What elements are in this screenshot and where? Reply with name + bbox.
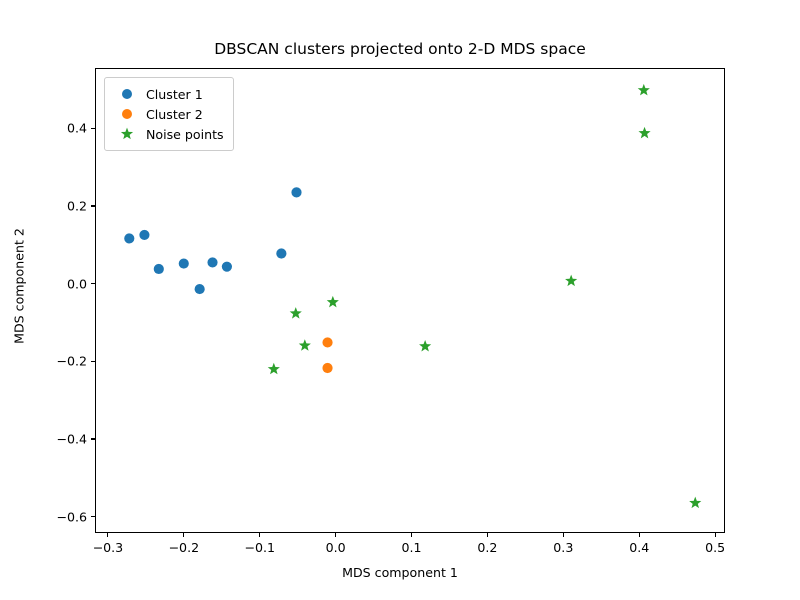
y-tick-mark <box>91 438 95 439</box>
legend-label: Noise points <box>146 127 224 142</box>
y-tick-mark <box>91 361 95 362</box>
x-tick-label: 0.0 <box>326 540 346 555</box>
data-point <box>124 233 134 243</box>
legend-label: Cluster 1 <box>146 87 203 102</box>
data-point <box>207 257 217 267</box>
circle-marker-icon <box>112 109 142 119</box>
x-tick-mark <box>487 533 488 537</box>
circle-marker-icon <box>112 89 142 99</box>
x-tick-label: 0.1 <box>402 540 422 555</box>
series-1 <box>124 187 301 294</box>
data-point <box>139 230 149 240</box>
data-point <box>689 497 701 509</box>
x-tick-mark <box>715 533 716 537</box>
data-point <box>565 275 577 287</box>
x-tick-label: 0.4 <box>629 540 649 555</box>
data-point <box>419 340 431 352</box>
series-3 <box>268 84 702 508</box>
x-tick-label: 0.5 <box>705 540 725 555</box>
data-point <box>276 248 286 258</box>
x-tick-mark <box>563 533 564 537</box>
data-point <box>322 363 332 373</box>
y-tick-mark <box>91 516 95 517</box>
data-point <box>327 296 339 308</box>
data-point <box>195 284 205 294</box>
y-tick-mark <box>91 128 95 129</box>
x-tick-mark <box>107 533 108 537</box>
legend-label: Cluster 2 <box>146 107 203 122</box>
chart-legend: Cluster 1Cluster 2Noise points <box>104 77 234 151</box>
data-point <box>291 187 301 197</box>
x-tick-mark <box>183 533 184 537</box>
matplotlib-figure: DBSCAN clusters projected onto 2-D MDS s… <box>0 0 800 600</box>
star-marker-icon <box>112 126 142 142</box>
x-axis-label: MDS component 1 <box>0 565 800 580</box>
y-axis-label-wrap: MDS component 2 <box>33 0 53 600</box>
x-tick-mark <box>259 533 260 537</box>
chart-title: DBSCAN clusters projected onto 2-D MDS s… <box>0 40 800 58</box>
y-tick-mark <box>91 205 95 206</box>
data-point <box>222 262 232 272</box>
x-tick-mark <box>411 533 412 537</box>
data-point <box>154 264 164 274</box>
data-point <box>179 258 189 268</box>
data-point <box>322 337 332 347</box>
legend-item-1[interactable]: Cluster 1 <box>112 84 224 104</box>
y-axis-label: MDS component 2 <box>12 228 27 344</box>
x-tick-label: −0.3 <box>93 540 124 555</box>
x-tick-mark <box>639 533 640 537</box>
series-2 <box>322 337 332 373</box>
data-point <box>299 339 311 351</box>
x-tick-label: 0.3 <box>553 540 573 555</box>
x-tick-label: −0.2 <box>169 540 200 555</box>
y-tick-mark <box>91 283 95 284</box>
x-tick-label: 0.2 <box>477 540 497 555</box>
data-point <box>638 127 650 139</box>
data-point <box>268 363 280 375</box>
data-point <box>290 307 302 319</box>
legend-item-3[interactable]: Noise points <box>112 124 224 144</box>
legend-item-2[interactable]: Cluster 2 <box>112 104 224 124</box>
x-tick-label: −0.1 <box>244 540 275 555</box>
data-point <box>638 84 650 96</box>
x-tick-mark <box>335 533 336 537</box>
